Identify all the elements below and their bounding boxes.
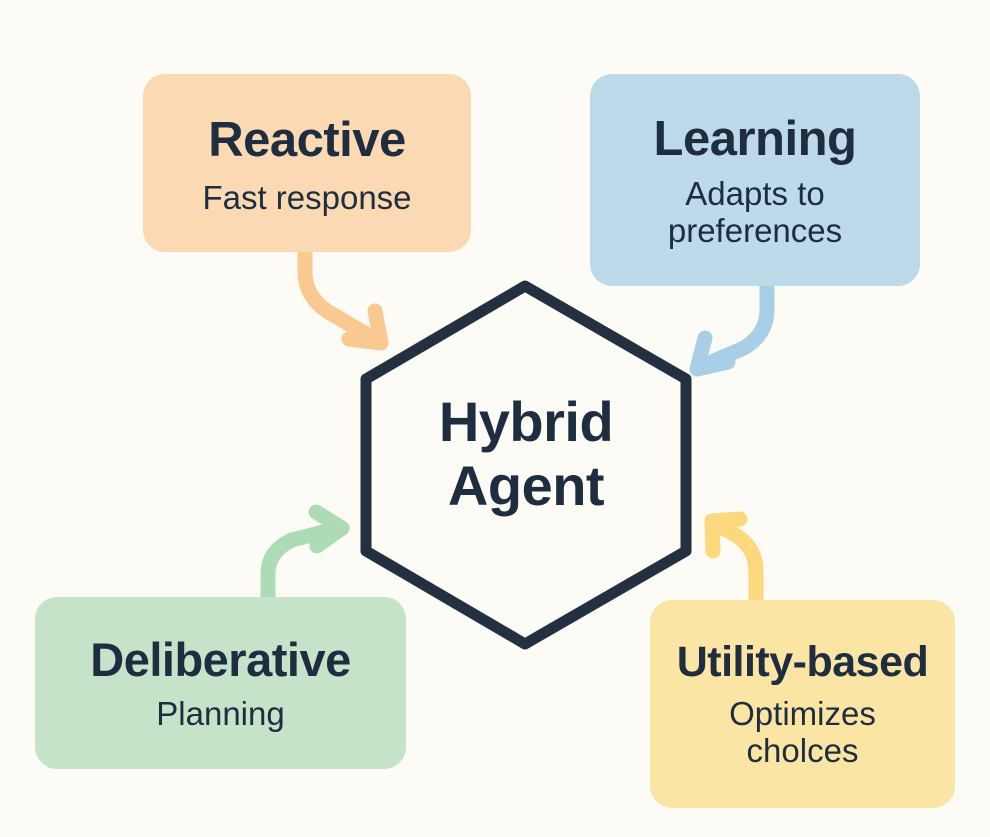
- arrow-reactive-to-hybrid: [305, 249, 381, 343]
- node-deliberative[interactable]: Deliberative Planning: [35, 597, 406, 769]
- node-reactive-title: Reactive: [208, 115, 406, 166]
- node-learning[interactable]: Learning Adapts to preferences: [590, 74, 920, 286]
- node-utility-based-subtitle: Optimizes cholces: [660, 696, 945, 770]
- node-learning-subtitle-line1: Adapts to: [605, 176, 905, 213]
- node-deliberative-title: Deliberative: [90, 635, 350, 684]
- node-learning-subtitle-line2: preferences: [605, 213, 905, 250]
- hexagon-shape: [366, 286, 686, 644]
- node-reactive[interactable]: Reactive Fast response: [143, 74, 471, 252]
- node-reactive-subtitle: Fast response: [202, 180, 411, 217]
- node-utility-based-subtitle-line1: Optimizes: [660, 696, 945, 733]
- node-learning-title: Learning: [654, 114, 857, 165]
- node-utility-based-title: Utility-based: [677, 640, 929, 685]
- arrow-utility-to-hybrid: [712, 519, 756, 600]
- node-utility-based[interactable]: Utility-based Optimizes cholces: [650, 600, 955, 808]
- diagram-canvas: Hybrid Agent Reactive Fast response Lear…: [0, 0, 990, 837]
- node-utility-based-subtitle-line2: cholces: [660, 733, 945, 770]
- node-deliberative-subtitle: Planning: [156, 696, 284, 733]
- arrow-deliberative-to-hybrid: [268, 512, 342, 597]
- node-learning-subtitle: Adapts to preferences: [605, 176, 905, 250]
- arrow-learning-to-hybrid: [697, 284, 767, 369]
